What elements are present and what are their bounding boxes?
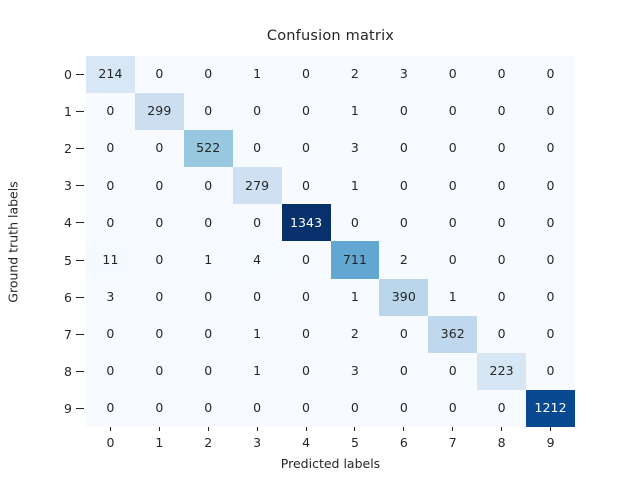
x-tick-label: 9: [547, 435, 555, 450]
heatmap-cell-r3-c4: 0: [282, 167, 331, 204]
heatmap-cell-r4-c9: 0: [526, 204, 575, 241]
y-tick-label: 8: [64, 364, 72, 379]
chart-title: Confusion matrix: [86, 28, 575, 44]
heatmap-cell-r7-c9: 0: [526, 316, 575, 353]
x-tick-label: 3: [253, 435, 261, 450]
heatmap-cell-r0-c2: 0: [184, 56, 233, 93]
heatmap-cell-r4-c3: 0: [233, 204, 282, 241]
heatmap-cell-value: 0: [253, 105, 261, 118]
y-tick-label: 7: [64, 327, 72, 342]
heatmap-axes: 2140010230000299000100000052200300000002…: [86, 56, 575, 427]
heatmap-cell-r9-c7: 0: [428, 390, 477, 427]
heatmap-cell-r6-c4: 0: [282, 279, 331, 316]
heatmap-cell-value: 0: [155, 217, 163, 230]
heatmap-cell-value: 0: [155, 254, 163, 267]
heatmap-cell-r0-c8: 0: [477, 56, 526, 93]
x-tick-label: 6: [400, 435, 408, 450]
heatmap-cell-value: 1: [253, 68, 261, 81]
heatmap-cell-value: 1343: [290, 217, 322, 230]
heatmap-cell-value: 0: [302, 402, 310, 415]
heatmap-cell-value: 0: [449, 68, 457, 81]
heatmap-cell-r8-c4: 0: [282, 353, 331, 390]
x-tick-mark-icon: [257, 427, 258, 431]
heatmap-cell-r5-c2: 1: [184, 241, 233, 278]
heatmap-cell-value: 0: [400, 365, 408, 378]
heatmap-cell-r1-c1: 299: [135, 93, 184, 130]
heatmap-cell-r3-c2: 0: [184, 167, 233, 204]
heatmap-cell-value: 0: [449, 142, 457, 155]
heatmap-cell-r1-c6: 0: [379, 93, 428, 130]
heatmap-cell-r9-c4: 0: [282, 390, 331, 427]
heatmap-cell-value: 0: [204, 328, 212, 341]
heatmap-cell-value: 11: [102, 254, 118, 267]
heatmap-cell-r0-c7: 0: [428, 56, 477, 93]
heatmap-cell-r1-c2: 0: [184, 93, 233, 130]
y-tick-mark-icon: [76, 371, 84, 372]
heatmap-cell-r4-c1: 0: [135, 204, 184, 241]
heatmap-cell-r1-c9: 0: [526, 93, 575, 130]
y-tick-8: 8: [50, 353, 86, 390]
heatmap-cell-value: 0: [400, 217, 408, 230]
heatmap-cell-r0-c0: 214: [86, 56, 135, 93]
y-tick-5: 5: [50, 241, 86, 278]
heatmap-cell-value: 279: [245, 180, 269, 193]
heatmap-cell-r2-c8: 0: [477, 130, 526, 167]
heatmap-cell-r5-c0: 11: [86, 241, 135, 278]
heatmap-cell-r3-c1: 0: [135, 167, 184, 204]
heatmap-cell-value: 0: [155, 291, 163, 304]
heatmap-cell-r1-c8: 0: [477, 93, 526, 130]
x-tick-label: 7: [449, 435, 457, 450]
heatmap-cell-r7-c7: 362: [428, 316, 477, 353]
heatmap-cell-value: 0: [204, 105, 212, 118]
heatmap-cell-r0-c3: 1: [233, 56, 282, 93]
heatmap-cell-value: 0: [253, 142, 261, 155]
heatmap-cell-value: 0: [155, 402, 163, 415]
heatmap-cell-value: 0: [204, 402, 212, 415]
heatmap-cell-r9-c8: 0: [477, 390, 526, 427]
y-tick-mark-icon: [76, 74, 84, 75]
heatmap-cell-r6-c7: 1: [428, 279, 477, 316]
heatmap-cell-r9-c3: 0: [233, 390, 282, 427]
heatmap-cell-value: 3: [351, 142, 359, 155]
heatmap-cell-value: 0: [302, 328, 310, 341]
heatmap-cell-value: 0: [106, 217, 114, 230]
y-tick-9: 9: [50, 390, 86, 427]
heatmap-cell-r7-c3: 1: [233, 316, 282, 353]
heatmap-cell-value: 0: [106, 142, 114, 155]
y-tick-mark-icon: [76, 408, 84, 409]
heatmap-cell-value: 0: [106, 105, 114, 118]
heatmap-cell-r4-c6: 0: [379, 204, 428, 241]
heatmap-cell-value: 0: [498, 68, 506, 81]
heatmap-cell-r8-c2: 0: [184, 353, 233, 390]
heatmap-cell-r5-c9: 0: [526, 241, 575, 278]
x-tick-mark-icon: [306, 427, 307, 431]
heatmap-cell-value: 0: [400, 180, 408, 193]
heatmap-cell-r8-c8: 223: [477, 353, 526, 390]
y-tick-3: 3: [50, 167, 86, 204]
y-tick-label: 4: [64, 215, 72, 230]
x-tick-label: 2: [204, 435, 212, 450]
heatmap-cell-value: 2: [400, 254, 408, 267]
heatmap-cell-value: 0: [106, 180, 114, 193]
x-tick-1: 1: [135, 427, 184, 453]
heatmap-cell-r3-c9: 0: [526, 167, 575, 204]
x-tick-mark-icon: [110, 427, 111, 431]
figure-canvas: Confusion matrix Ground truth labels 012…: [0, 0, 640, 480]
heatmap-cell-r9-c9: 1212: [526, 390, 575, 427]
heatmap-cell-value: 1: [204, 254, 212, 267]
heatmap-cell-value: 1: [351, 291, 359, 304]
heatmap-cell-r3-c8: 0: [477, 167, 526, 204]
y-tick-mark-icon: [76, 297, 84, 298]
heatmap-cell-r8-c5: 3: [331, 353, 380, 390]
heatmap-cell-r5-c6: 2: [379, 241, 428, 278]
x-tick-mark-icon: [354, 427, 355, 431]
y-tick-label: 3: [64, 178, 72, 193]
heatmap-cell-value: 299: [147, 105, 171, 118]
heatmap-cell-value: 0: [155, 68, 163, 81]
heatmap-cell-r1-c4: 0: [282, 93, 331, 130]
heatmap-cell-value: 0: [400, 402, 408, 415]
heatmap-cell-value: 0: [155, 142, 163, 155]
x-tick-label: 5: [351, 435, 359, 450]
heatmap-cell-value: 1212: [534, 402, 566, 415]
heatmap-cell-r4-c8: 0: [477, 204, 526, 241]
heatmap-cell-r9-c1: 0: [135, 390, 184, 427]
heatmap-cell-r4-c0: 0: [86, 204, 135, 241]
heatmap-cell-r2-c3: 0: [233, 130, 282, 167]
heatmap-cell-r7-c8: 0: [477, 316, 526, 353]
heatmap-cell-r2-c0: 0: [86, 130, 135, 167]
x-axis-ticks: 0123456789: [86, 427, 575, 453]
y-tick-6: 6: [50, 279, 86, 316]
heatmap-cell-r2-c2: 522: [184, 130, 233, 167]
heatmap-cell-value: 0: [449, 180, 457, 193]
heatmap-cell-value: 0: [351, 217, 359, 230]
heatmap-cell-value: 0: [253, 291, 261, 304]
x-axis-label: Predicted labels: [86, 456, 575, 471]
y-tick-4: 4: [50, 204, 86, 241]
heatmap-cell-value: 522: [196, 142, 220, 155]
heatmap-cell-value: 1: [351, 105, 359, 118]
x-tick-mark-icon: [452, 427, 453, 431]
heatmap-cell-r2-c7: 0: [428, 130, 477, 167]
heatmap-cell-r6-c2: 0: [184, 279, 233, 316]
y-tick-label: 1: [64, 104, 72, 119]
heatmap-cell-r8-c3: 1: [233, 353, 282, 390]
heatmap-cell-r7-c0: 0: [86, 316, 135, 353]
y-tick-label: 9: [64, 401, 72, 416]
heatmap-cell-value: 0: [449, 105, 457, 118]
heatmap-cell-value: 214: [98, 68, 122, 81]
heatmap-cell-r3-c7: 0: [428, 167, 477, 204]
heatmap-cell-r8-c9: 0: [526, 353, 575, 390]
heatmap-cell-r9-c5: 0: [331, 390, 380, 427]
heatmap-cell-r4-c2: 0: [184, 204, 233, 241]
y-axis-label: Ground truth labels: [6, 181, 21, 302]
heatmap-cell-value: 711: [343, 254, 367, 267]
heatmap-cell-value: 1: [351, 180, 359, 193]
heatmap-cell-value: 0: [498, 105, 506, 118]
y-tick-mark-icon: [76, 334, 84, 335]
x-tick-label: 4: [302, 435, 310, 450]
heatmap-cell-r6-c5: 1: [331, 279, 380, 316]
heatmap-cell-value: 0: [106, 402, 114, 415]
heatmap-cell-value: 362: [441, 328, 465, 341]
heatmap-cell-r2-c5: 3: [331, 130, 380, 167]
heatmap-cell-value: 0: [253, 217, 261, 230]
heatmap-cell-r3-c3: 279: [233, 167, 282, 204]
heatmap-cell-value: 0: [106, 365, 114, 378]
heatmap-cell-r9-c6: 0: [379, 390, 428, 427]
y-tick-label: 6: [64, 290, 72, 305]
heatmap-cell-r2-c9: 0: [526, 130, 575, 167]
heatmap-cell-value: 0: [106, 328, 114, 341]
heatmap-cell-r1-c7: 0: [428, 93, 477, 130]
x-tick-label: 8: [498, 435, 506, 450]
y-tick-0: 0: [50, 56, 86, 93]
x-tick-6: 6: [379, 427, 428, 453]
x-tick-mark-icon: [208, 427, 209, 431]
heatmap-cell-value: 0: [302, 291, 310, 304]
heatmap-cell-value: 0: [547, 365, 555, 378]
heatmap-cell-r3-c6: 0: [379, 167, 428, 204]
heatmap-cell-value: 0: [400, 328, 408, 341]
heatmap-cell-value: 0: [204, 291, 212, 304]
heatmap-cell-value: 0: [253, 402, 261, 415]
heatmap-cell-value: 0: [547, 180, 555, 193]
heatmap-cell-value: 0: [547, 217, 555, 230]
heatmap-cell-r7-c6: 0: [379, 316, 428, 353]
y-tick-label: 0: [64, 67, 72, 82]
heatmap-cell-value: 3: [106, 291, 114, 304]
heatmap-cell-value: 0: [302, 68, 310, 81]
heatmap-cell-r3-c0: 0: [86, 167, 135, 204]
heatmap-cell-value: 0: [155, 365, 163, 378]
y-tick-label: 2: [64, 141, 72, 156]
heatmap-cell-value: 0: [498, 402, 506, 415]
heatmap-cell-r8-c0: 0: [86, 353, 135, 390]
x-tick-mark-icon: [550, 427, 551, 431]
heatmap-cell-r0-c5: 2: [331, 56, 380, 93]
heatmap-cell-value: 0: [449, 365, 457, 378]
y-tick-label: 5: [64, 253, 72, 268]
heatmap-cell-r3-c5: 1: [331, 167, 380, 204]
y-axis-label-container: Ground truth labels: [0, 56, 26, 427]
heatmap-cell-r0-c6: 3: [379, 56, 428, 93]
x-tick-3: 3: [233, 427, 282, 453]
heatmap-cell-r2-c4: 0: [282, 130, 331, 167]
heatmap-cell-value: 0: [400, 142, 408, 155]
heatmap-cell-value: 0: [498, 254, 506, 267]
x-tick-5: 5: [331, 427, 380, 453]
x-tick-2: 2: [184, 427, 233, 453]
heatmap-cell-value: 2: [351, 68, 359, 81]
heatmap-cell-r5-c4: 0: [282, 241, 331, 278]
x-tick-7: 7: [428, 427, 477, 453]
heatmap-cell-value: 390: [392, 291, 416, 304]
heatmap-cell-r6-c8: 0: [477, 279, 526, 316]
heatmap-cell-value: 0: [498, 328, 506, 341]
heatmap-cell-r7-c1: 0: [135, 316, 184, 353]
heatmap-cell-r6-c6: 390: [379, 279, 428, 316]
heatmap-cell-value: 0: [547, 68, 555, 81]
heatmap-cell-value: 0: [498, 217, 506, 230]
heatmap-cell-r2-c1: 0: [135, 130, 184, 167]
heatmap-cell-value: 0: [547, 142, 555, 155]
heatmap-cell-value: 0: [351, 402, 359, 415]
heatmap-cell-r7-c4: 0: [282, 316, 331, 353]
heatmap-cell-r4-c4: 1343: [282, 204, 331, 241]
heatmap-cell-value: 0: [400, 105, 408, 118]
heatmap-cell-r0-c1: 0: [135, 56, 184, 93]
y-tick-mark-icon: [76, 185, 84, 186]
x-tick-mark-icon: [501, 427, 502, 431]
heatmap-cell-value: 3: [351, 365, 359, 378]
heatmap-cell-value: 0: [302, 142, 310, 155]
heatmap-cell-r5-c7: 0: [428, 241, 477, 278]
heatmap-cell-value: 0: [547, 254, 555, 267]
heatmap-cell-r0-c9: 0: [526, 56, 575, 93]
heatmap-cell-value: 0: [302, 365, 310, 378]
heatmap-cell-value: 0: [204, 217, 212, 230]
heatmap-cell-r6-c0: 3: [86, 279, 135, 316]
heatmap-cell-value: 4: [253, 254, 261, 267]
x-tick-8: 8: [477, 427, 526, 453]
heatmap-cell-r8-c1: 0: [135, 353, 184, 390]
heatmap-cell-r6-c9: 0: [526, 279, 575, 316]
heatmap-cell-value: 0: [498, 291, 506, 304]
heatmap-cell-value: 0: [449, 217, 457, 230]
heatmap-cell-value: 0: [547, 291, 555, 304]
heatmap-cell-value: 0: [302, 180, 310, 193]
x-tick-4: 4: [282, 427, 331, 453]
heatmap-cell-r6-c3: 0: [233, 279, 282, 316]
heatmap-cell-value: 2: [351, 328, 359, 341]
heatmap-cell-r4-c5: 0: [331, 204, 380, 241]
heatmap-cell-value: 0: [547, 105, 555, 118]
heatmap-cell-value: 0: [449, 254, 457, 267]
heatmap-cell-r5-c1: 0: [135, 241, 184, 278]
x-tick-mark-icon: [403, 427, 404, 431]
heatmap-cell-value: 1: [253, 365, 261, 378]
heatmap-cell-r0-c4: 0: [282, 56, 331, 93]
y-tick-mark-icon: [76, 260, 84, 261]
x-tick-label: 1: [155, 435, 163, 450]
heatmap-cell-value: 1: [449, 291, 457, 304]
heatmap-cell-r1-c0: 0: [86, 93, 135, 130]
heatmap-cell-value: 1: [253, 328, 261, 341]
heatmap-cell-value: 0: [547, 328, 555, 341]
heatmap-cell-value: 0: [204, 365, 212, 378]
heatmap-cell-r9-c0: 0: [86, 390, 135, 427]
y-axis-ticks: 0123456789: [50, 56, 86, 427]
y-tick-mark-icon: [76, 148, 84, 149]
heatmap-cell-r8-c7: 0: [428, 353, 477, 390]
heatmap-cell-value: 0: [155, 328, 163, 341]
heatmap-cell-r5-c8: 0: [477, 241, 526, 278]
x-tick-0: 0: [86, 427, 135, 453]
heatmap-cell-value: 3: [400, 68, 408, 81]
heatmap-cell-r9-c2: 0: [184, 390, 233, 427]
x-tick-label: 0: [106, 435, 114, 450]
heatmap-cell-r2-c6: 0: [379, 130, 428, 167]
heatmap-cell-r7-c5: 2: [331, 316, 380, 353]
heatmap-cell-value: 0: [155, 180, 163, 193]
heatmap-cell-r8-c6: 0: [379, 353, 428, 390]
heatmap-cell-value: 0: [302, 105, 310, 118]
x-tick-mark-icon: [159, 427, 160, 431]
y-tick-7: 7: [50, 316, 86, 353]
heatmap-cell-r6-c1: 0: [135, 279, 184, 316]
heatmap-cell-r1-c5: 1: [331, 93, 380, 130]
heatmap-grid: 2140010230000299000100000052200300000002…: [86, 56, 575, 427]
y-tick-mark-icon: [76, 222, 84, 223]
heatmap-cell-r5-c5: 711: [331, 241, 380, 278]
y-tick-mark-icon: [76, 111, 84, 112]
heatmap-cell-value: 223: [490, 365, 514, 378]
heatmap-cell-r7-c2: 0: [184, 316, 233, 353]
y-tick-2: 2: [50, 130, 86, 167]
y-tick-1: 1: [50, 93, 86, 130]
heatmap-cell-value: 0: [302, 254, 310, 267]
heatmap-cell-r1-c3: 0: [233, 93, 282, 130]
heatmap-cell-value: 0: [204, 180, 212, 193]
heatmap-cell-r5-c3: 4: [233, 241, 282, 278]
heatmap-cell-value: 0: [498, 180, 506, 193]
heatmap-cell-value: 0: [449, 402, 457, 415]
heatmap-cell-value: 0: [204, 68, 212, 81]
x-tick-9: 9: [526, 427, 575, 453]
heatmap-cell-r4-c7: 0: [428, 204, 477, 241]
heatmap-cell-value: 0: [498, 142, 506, 155]
